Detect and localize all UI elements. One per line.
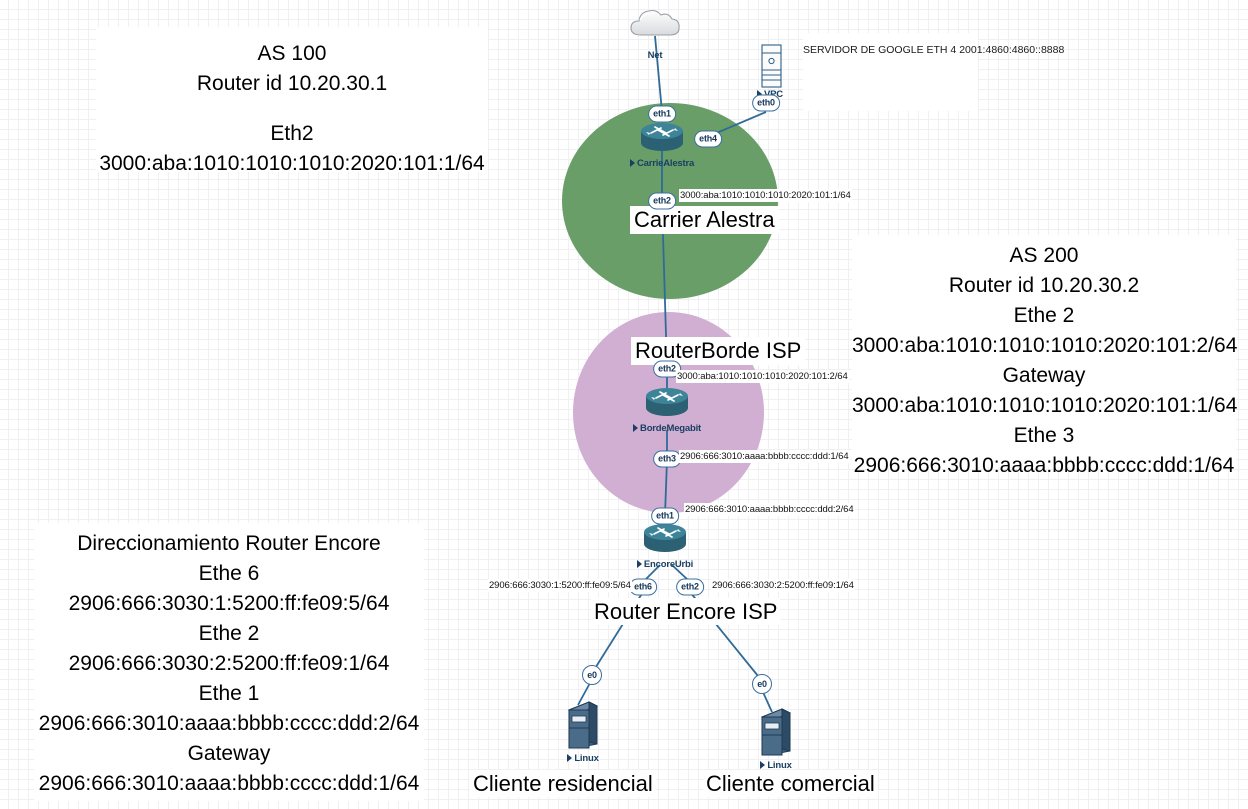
expand-triangle-icon: [637, 560, 642, 568]
addr-encore-eth2: 2906:666:3030:2:5200:ff:fe09:1/64: [711, 579, 855, 592]
node-carrier-alestra[interactable]: CarrieAlestra: [617, 121, 707, 171]
encore-gateway-label: Gateway: [34, 739, 424, 769]
google-title: SERVIDOR DE GOOGLE: [803, 44, 924, 56]
iface-vpc-eth0[interactable]: eth0: [752, 95, 780, 112]
encore-eth6-label: Ethe 6: [34, 559, 424, 589]
node-encore-urbi[interactable]: EncoreUrbi: [620, 522, 710, 572]
node-carrier-label: CarrieAlestra: [630, 158, 694, 169]
node-carrier-text: CarrieAlestra: [637, 158, 694, 169]
encore-title: Direccionamiento Router Encore: [34, 529, 424, 559]
iface-encore-eth1[interactable]: eth1: [651, 508, 679, 525]
as200-iface2-label: Ethe 2: [852, 301, 1236, 331]
as100-iface-addr: 3000:aba:1010:1010:1010:2020:101:1/64: [96, 149, 488, 179]
iface-linux1-e0[interactable]: e0: [582, 665, 602, 685]
addr-borde-eth3: 2906:666:3010:aaaa:bbbb:cccc:ddd:1/64: [679, 450, 850, 463]
server-icon: [731, 707, 821, 755]
as200-iface2-addr: 3000:aba:1010:1010:1010:2020:101:2/64: [852, 331, 1236, 361]
as200-gateway-label: Gateway: [852, 361, 1236, 391]
note-as100: AS 100 Router id 10.20.30.1 Eth2 3000:ab…: [96, 27, 488, 172]
caption-router-encore-text: Router Encore ISP: [594, 599, 777, 624]
zone-title-carrier-alestra: Carrier Alestra: [630, 206, 779, 234]
iface-borde-eth3[interactable]: eth3: [653, 451, 681, 468]
encore-eth2-addr: 2906:666:3030:2:5200:ff:fe09:1/64: [34, 649, 424, 679]
expand-triangle-icon: [633, 424, 638, 432]
node-linux-comercial[interactable]: Linux: [731, 707, 821, 773]
node-borde-label: BordeMegabit: [633, 423, 701, 434]
cloud-icon: [610, 5, 700, 45]
note-as200: AS 200 Router id 10.20.30.2 Ethe 2 3000:…: [852, 235, 1236, 467]
iface-linux2-e0[interactable]: e0: [752, 674, 772, 694]
server-icon: [725, 44, 815, 84]
iface-encore-eth6[interactable]: eth6: [629, 579, 657, 596]
iface-carrier-eth2[interactable]: eth2: [648, 193, 676, 210]
node-net-label: Net: [648, 50, 663, 61]
as200-title: AS 200: [852, 241, 1236, 271]
network-diagram-canvas[interactable]: AS 100 Router id 10.20.30.1 Eth2 3000:ab…: [0, 0, 1248, 809]
caption-router-encore: Router Encore ISP: [591, 598, 780, 625]
as100-router-id: Router id 10.20.30.1: [96, 69, 488, 99]
google-addr: 2001:4860:4860::8888: [959, 44, 1064, 56]
as100-iface-label: Eth2: [96, 119, 488, 149]
expand-triangle-icon: [630, 159, 635, 167]
as200-iface3-label: Ethe 3: [852, 421, 1236, 451]
encore-eth2-label: Ethe 2: [34, 619, 424, 649]
node-borde-text: BordeMegabit: [640, 423, 701, 434]
as100-title: AS 100: [96, 39, 488, 69]
node-vpc[interactable]: VPC: [725, 44, 815, 102]
node-linux-residencial[interactable]: Linux: [538, 700, 628, 766]
encore-gateway-addr: 2906:666:3010:aaaa:bbbb:cccc:ddd:1/64: [34, 769, 424, 799]
addr-encore-eth6: 2906:666:3030:1:5200:ff:fe09:5/64: [488, 579, 632, 592]
addr-carrier-eth2: 3000:aba:1010:1010:1010:2020:101:1/64: [679, 189, 852, 202]
as200-gateway-addr: 3000:aba:1010:1010:1010:2020:101:1/64: [852, 391, 1236, 421]
as200-iface3-addr: 2906:666:3010:aaaa:bbbb:cccc:ddd:1/64: [852, 451, 1236, 481]
note-encore-addressing: Direccionamiento Router Encore Ethe 6 29…: [34, 523, 424, 801]
iface-encore-eth2[interactable]: eth2: [676, 579, 704, 596]
node-linux1-text: Linux: [574, 753, 598, 764]
note-servidor-google: SERVIDOR DE GOOGLE ETH 4 2001:4860:4860:…: [803, 33, 978, 111]
as200-router-id: Router id 10.20.30.2: [852, 271, 1236, 301]
server-icon: [538, 700, 628, 748]
router-icon: [622, 386, 712, 418]
node-encore-text: EncoreUrbi: [644, 559, 693, 570]
node-linux1-label: Linux: [567, 753, 598, 764]
addr-borde-eth2: 3000:aba:1010:1010:1010:2020:101:2/64: [676, 370, 849, 383]
router-icon: [620, 522, 710, 554]
iface-carrier-eth1[interactable]: eth1: [648, 106, 676, 123]
caption-cliente-comercial: Cliente comercial: [703, 770, 878, 797]
iface-carrier-eth4[interactable]: eth4: [694, 131, 722, 148]
encore-eth1-label: Ethe 1: [34, 679, 424, 709]
addr-encore-eth1: 2906:666:3010:aaaa:bbbb:cccc:ddd:2/64: [684, 503, 855, 516]
node-borde-megabit[interactable]: BordeMegabit: [622, 386, 712, 436]
google-iface-label: ETH 4: [927, 44, 957, 56]
expand-triangle-icon: [567, 754, 572, 762]
node-encore-label: EncoreUrbi: [637, 559, 693, 570]
encore-eth1-addr: 2906:666:3010:aaaa:bbbb:cccc:ddd:2/64: [34, 709, 424, 739]
encore-eth6-addr: 2906:666:3030:1:5200:ff:fe09:5/64: [34, 589, 424, 619]
node-net[interactable]: Net: [610, 5, 700, 63]
node-net-text: Net: [648, 50, 663, 61]
expand-triangle-icon: [760, 761, 765, 769]
caption-cliente-residencial: Cliente residencial: [470, 770, 656, 797]
